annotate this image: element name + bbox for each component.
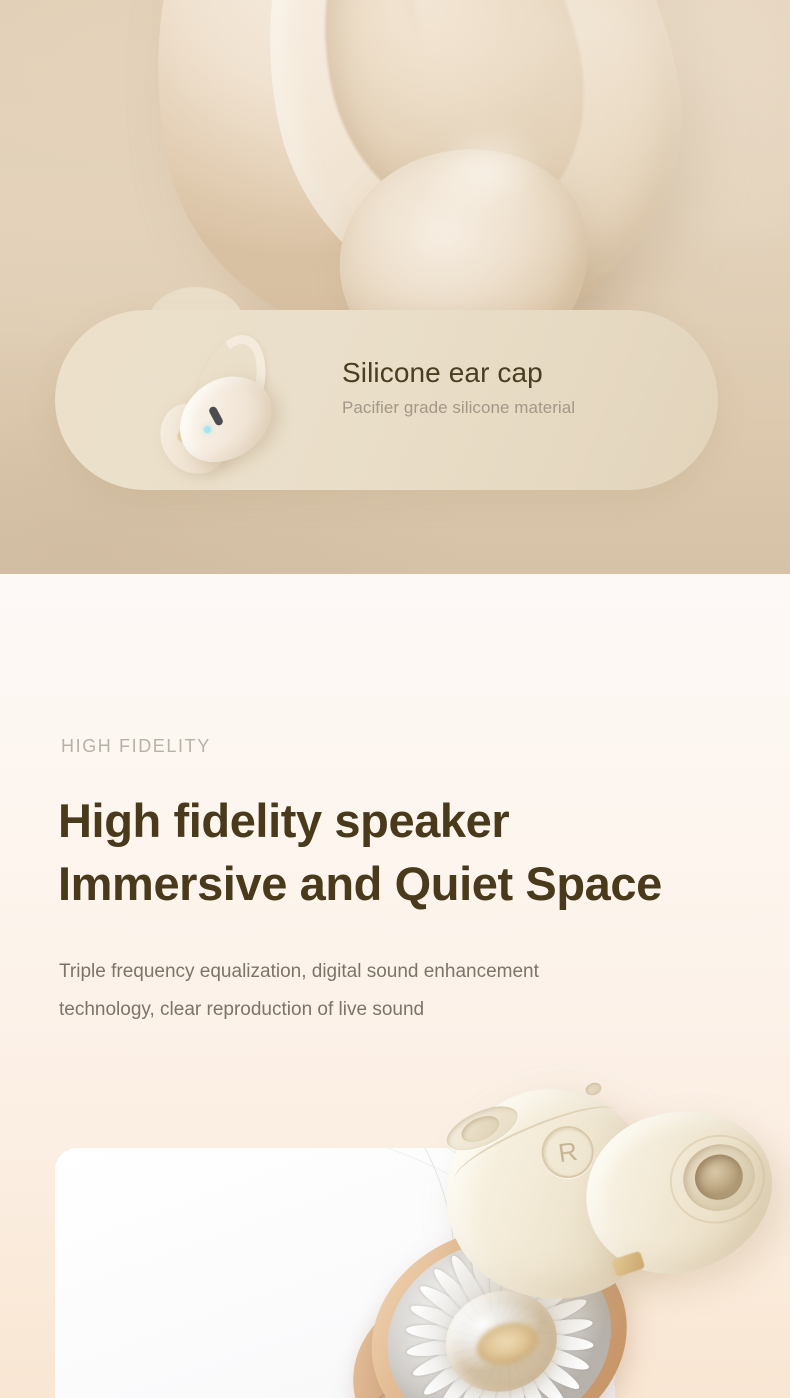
earbud-right-icon: R bbox=[436, 1060, 790, 1360]
badge-text-group: Silicone ear cap Pacifier grade silicone… bbox=[342, 357, 672, 418]
badge-title: Silicone ear cap bbox=[342, 357, 672, 389]
body-line-2: technology, clear reproduction of live s… bbox=[59, 991, 679, 1029]
section-body-copy: Triple frequency equalization, digital s… bbox=[59, 953, 679, 1029]
section-headline: High fidelity speaker Immersive and Quie… bbox=[58, 790, 778, 915]
headline-line-2: Immersive and Quiet Space bbox=[58, 853, 778, 916]
product-detail-page: Silicone ear cap Pacifier grade silicone… bbox=[0, 0, 790, 1398]
badge-subtitle: Pacifier grade silicone material bbox=[342, 398, 672, 418]
body-line-1: Triple frequency equalization, digital s… bbox=[59, 961, 539, 982]
section-eyebrow: HIGH FIDELITY bbox=[61, 736, 211, 757]
headline-line-1: High fidelity speaker bbox=[58, 794, 509, 847]
earbud-led-indicator bbox=[204, 426, 211, 433]
earbud-right-letter: R bbox=[557, 1138, 579, 1166]
earbud-silicone-cap-icon bbox=[160, 336, 290, 476]
ear-closeup-hero: Silicone ear cap Pacifier grade silicone… bbox=[0, 0, 790, 574]
